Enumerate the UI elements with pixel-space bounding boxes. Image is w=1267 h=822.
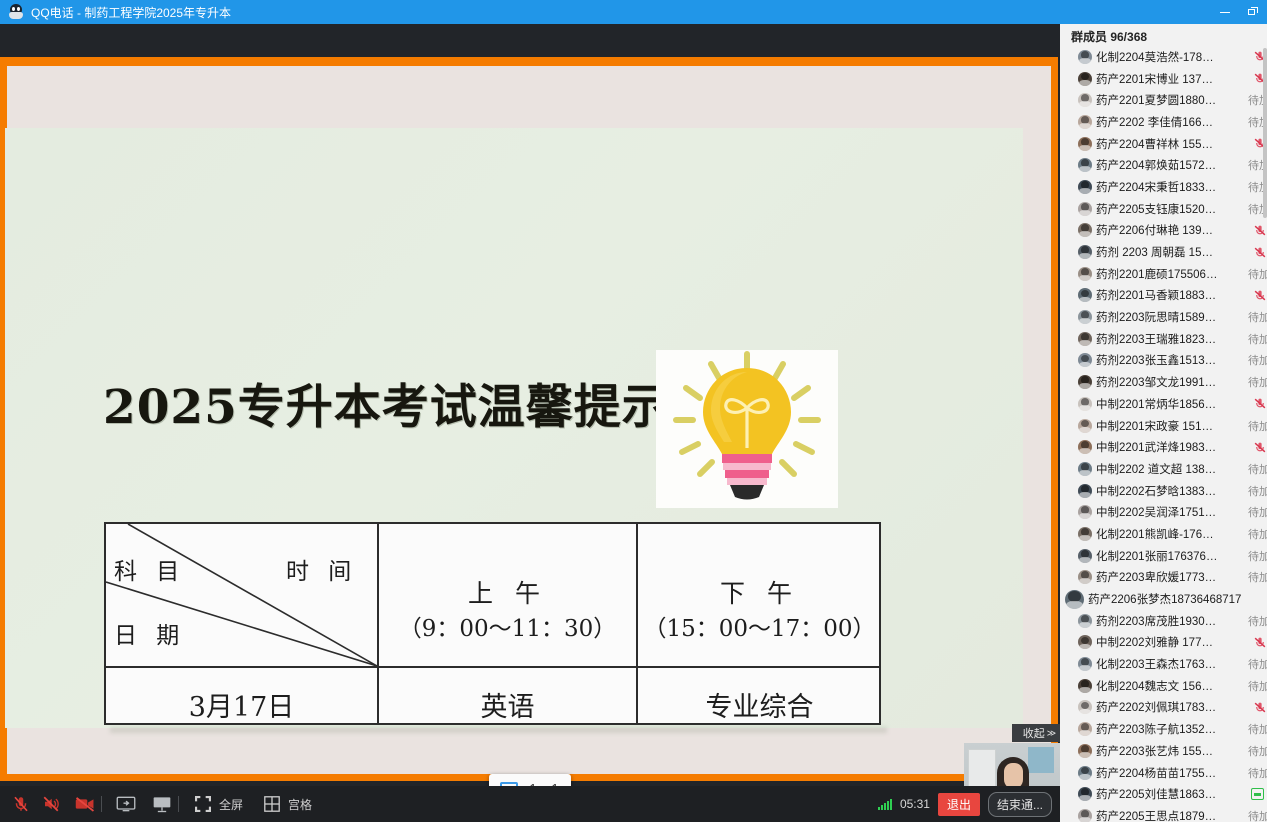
member-name: 化制2204莫浩然-178392... [1096, 49, 1218, 65]
lightbulb-illustration [656, 350, 838, 508]
window-titlebar: QQ电话 - 制药工程学院2025年专升本 [0, 0, 1267, 24]
status-pending-label: 待加入 [1248, 613, 1267, 629]
member-name: 药剂2203席茂胜1930390... [1096, 613, 1218, 629]
member-list-item[interactable]: 化制2201张丽17637648...待加入 [1060, 545, 1267, 567]
avatar [1078, 137, 1092, 151]
mic-muted-icon [10, 786, 32, 822]
lightbulb-icon [656, 350, 838, 508]
member-name: 药产2201夏梦圆1880739... [1096, 92, 1218, 108]
member-list-item[interactable]: 药剂2201马香颖1883868... [1060, 285, 1267, 307]
qq-penguin-icon [8, 4, 24, 20]
whiteboard-icon [151, 786, 173, 822]
member-list-item[interactable]: 药产2202刘佩琪1783847... [1060, 697, 1267, 719]
member-name: 药产2204宋秉哲1833844... [1096, 179, 1218, 195]
status-pending-label: 待加入 [1248, 569, 1267, 585]
avatar [1078, 180, 1092, 194]
mic-muted-icon [1253, 701, 1267, 714]
member-list-item[interactable]: 药产2206付琳艳 1394922... [1060, 220, 1267, 242]
avatar [1078, 766, 1092, 780]
member-status: 待加入 [1248, 526, 1267, 542]
member-status: 待加入 [1248, 418, 1267, 434]
mic-muted-icon [1253, 441, 1267, 454]
minimize-button[interactable] [1211, 0, 1239, 24]
member-list-item[interactable]: 中制2201宋政豪 151363...待加入 [1060, 415, 1267, 437]
member-name: 药产2206付琳艳 1394922... [1096, 222, 1218, 238]
avatar [1078, 310, 1092, 324]
mic-muted-icon [1253, 246, 1267, 259]
status-pending-label: 待加入 [1248, 418, 1267, 434]
status-pending-label: 待加入 [1248, 504, 1267, 520]
table-header-morning-time: （9：00～11：30） [379, 609, 636, 643]
member-list-item[interactable]: 化制2204魏志文 156908...待加入 [1060, 675, 1267, 697]
member-status: 待加入 [1248, 504, 1267, 520]
member-name: 中制2201常炳华185689... [1096, 396, 1218, 412]
member-status: 待加入 [1248, 613, 1267, 629]
member-list-item[interactable]: 药产2204杨苗苗1755067...待加入 [1060, 762, 1267, 784]
toolbar-right-group: 05:31 退出 结束通... [878, 792, 1060, 817]
avatar [1078, 375, 1092, 389]
member-status [1253, 224, 1267, 237]
end-call-button[interactable]: 结束通... [988, 792, 1052, 817]
avatar [1078, 93, 1092, 107]
presentation-slide: 2025专升本考试温馨提示 [5, 128, 1023, 728]
mic-button[interactable] [10, 786, 32, 822]
call-toolbar: 全屏 宫格 05:31 退出 结束通... [0, 786, 1060, 822]
grid-button[interactable]: 宫格 [261, 786, 312, 822]
member-status: 待加入 [1248, 461, 1267, 477]
member-list-item[interactable]: 药产2205王思点1879066...待加入 [1060, 805, 1267, 822]
mic-muted-icon [1253, 397, 1267, 410]
mic-muted-icon [1253, 289, 1267, 302]
avatar [1078, 288, 1092, 302]
avatar [1078, 223, 1092, 237]
member-status [1253, 246, 1267, 259]
toolbar-divider [101, 796, 102, 812]
member-status [1253, 397, 1267, 410]
status-pending-label: 待加入 [1248, 808, 1267, 822]
avatar [1078, 549, 1092, 563]
avatar [1078, 787, 1092, 801]
member-list-item[interactable]: 中制2202刘雅静 177038... [1060, 632, 1267, 654]
member-name: 药产2203陈子航135237-... [1096, 721, 1218, 737]
status-pending-label: 待加入 [1248, 331, 1267, 347]
member-list-item[interactable]: 中制2201常炳华185689... [1060, 393, 1267, 415]
member-name: 药产2205刘佳慧1863900... [1096, 786, 1218, 802]
status-pending-label: 待加入 [1248, 765, 1267, 781]
avatar [1078, 744, 1092, 758]
status-pending-label: 待加入 [1248, 309, 1267, 325]
member-status: 待加入 [1248, 309, 1267, 325]
member-list-item[interactable]: 化制2201熊凯峰-176384...待加入 [1060, 523, 1267, 545]
avatar [1078, 722, 1092, 736]
window-controls [1211, 0, 1267, 24]
member-list-item[interactable]: 药产2206张梦杰18736468717 [1060, 588, 1267, 610]
avatar [1078, 462, 1092, 476]
member-name: 化制2201熊凯峰-176384... [1096, 526, 1218, 542]
member-name: 中制2201宋政豪 151363... [1096, 418, 1218, 434]
member-list-item[interactable]: 药产2203张艺炜 1551711...待加入 [1060, 740, 1267, 762]
fullscreen-icon [192, 786, 214, 822]
member-list-item[interactable]: 中制2201武洋烽1983970... [1060, 436, 1267, 458]
status-pending-label: 待加入 [1248, 548, 1267, 564]
avatar [1078, 440, 1092, 454]
corner-label-subject: 科 目 [114, 552, 185, 586]
member-list-item[interactable]: 化制2203王森杰1763055...待加入 [1060, 653, 1267, 675]
chevron-down-icon: ≫ [1047, 728, 1053, 739]
avatar [1078, 397, 1092, 411]
member-name: 药产2204杨苗苗1755067... [1096, 765, 1218, 781]
member-status: 待加入 [1248, 656, 1267, 672]
table-shadow [110, 727, 887, 733]
corner-label-date: 日 期 [114, 616, 185, 650]
avatar [1078, 202, 1092, 216]
status-pending-label: 待加入 [1248, 721, 1267, 737]
member-status [1253, 701, 1267, 714]
members-scrollbar[interactable] [1263, 48, 1267, 218]
member-list-item[interactable]: 中制2202吴润泽175187...待加入 [1060, 501, 1267, 523]
avatar [1078, 484, 1092, 498]
member-status: 待加入 [1248, 548, 1267, 564]
member-list-item[interactable]: 药剂2201鹿硕17550652...待加入 [1060, 263, 1267, 285]
collapse-button[interactable]: 收起 ≫ [1012, 724, 1064, 742]
grid-icon [261, 786, 283, 822]
member-name: 药剂2203邹文龙1991340... [1096, 374, 1218, 390]
member-status: 待加入 [1248, 808, 1267, 822]
member-name: 中制2202刘雅静 177038... [1096, 634, 1218, 650]
grid-label: 宫格 [288, 796, 312, 813]
member-name: 药产2203张艺炜 1551711... [1096, 743, 1218, 759]
member-list-item[interactable]: 化制2204莫浩然-178392... [1060, 46, 1267, 68]
status-pending-label: 待加入 [1248, 352, 1267, 368]
fullscreen-label: 全屏 [219, 796, 243, 813]
member-name: 中制2201武洋烽1983970... [1096, 439, 1218, 455]
avatar [1078, 505, 1092, 519]
member-list-item[interactable]: 中制2202石梦晗1383700...待加入 [1060, 480, 1267, 502]
mic-muted-icon [1253, 224, 1267, 237]
avatar [1078, 635, 1092, 649]
member-list-item[interactable]: 药产2202 李佳倩166928...待加入 [1060, 111, 1267, 133]
exit-button[interactable]: 退出 [938, 793, 980, 816]
member-status: 待加入 [1248, 743, 1267, 759]
table-cell-afternoon-subject: 专业综合 [638, 685, 881, 724]
member-status [1253, 441, 1267, 454]
member-name: 药产2205王思点1879066... [1096, 808, 1218, 822]
speaker-muted-icon [40, 786, 62, 822]
member-name: 药产2204郭焕茹1572611... [1096, 157, 1218, 173]
member-status: 待加入 [1248, 374, 1267, 390]
window-title: QQ电话 - 制药工程学院2025年专升本 [31, 4, 231, 21]
avatar [1078, 700, 1092, 714]
members-panel-header: 群成员 96/368 [1060, 24, 1267, 46]
avatar [1078, 115, 1092, 129]
table-header-afternoon: 下 午 [638, 574, 881, 610]
member-status: 待加入 [1248, 483, 1267, 499]
slide-title: 2025专升本考试温馨提示 [103, 368, 670, 437]
member-list-item[interactable]: 药产2204曹祥林 155655... [1060, 133, 1267, 155]
table-header-afternoon-time: （15：00～17：00） [638, 609, 881, 643]
member-list-item[interactable]: 药剂 2203 周朝磊 15827... [1060, 241, 1267, 263]
member-name: 化制2201张丽17637648... [1096, 548, 1218, 564]
screen-share-button[interactable] [115, 786, 137, 822]
member-name: 药剂 2203 周朝磊 15827... [1096, 244, 1218, 260]
member-name: 药剂2201马香颖1883868... [1096, 287, 1218, 303]
avatar [1078, 353, 1092, 367]
fullscreen-button[interactable]: 全屏 [192, 786, 243, 822]
status-pending-label: 待加入 [1248, 743, 1267, 759]
member-status: 待加入 [1248, 569, 1267, 585]
member-list-item[interactable]: 药产2201宋博业 1378277... [1060, 68, 1267, 90]
status-pending-label: 待加入 [1248, 678, 1267, 694]
member-name: 药剂2203王瑞雅182370... [1096, 331, 1218, 347]
collapse-label: 收起 [1023, 725, 1045, 741]
avatar [1078, 332, 1092, 346]
avatar [1078, 50, 1092, 64]
member-name: 药产2206张梦杰18736468717 [1088, 591, 1241, 607]
member-status: 待加入 [1248, 721, 1267, 737]
member-list-item[interactable]: 药剂2203张玉鑫1513818...待加入 [1060, 350, 1267, 372]
table-cell-date: 3月17日 [106, 685, 377, 724]
member-name: 药产2202刘佩琪1783847... [1096, 699, 1218, 715]
table-cell-morning-subject: 英语 [379, 685, 636, 724]
member-list-item[interactable]: 药剂2203阮思晴1589657...待加入 [1060, 306, 1267, 328]
member-name: 药剂2203张玉鑫1513818... [1096, 352, 1218, 368]
call-timer: 05:31 [900, 797, 930, 811]
member-name: 中制2202 道文超 13838... [1096, 461, 1218, 477]
member-name: 药剂2203阮思晴1589657... [1096, 309, 1218, 325]
screen-share-icon [115, 786, 137, 822]
member-list-item[interactable]: 药产2204郭焕茹1572611...待加入 [1060, 154, 1267, 176]
member-list-item[interactable]: 药产2201夏梦圆1880739...待加入 [1060, 89, 1267, 111]
joined-speaking-icon [1251, 788, 1267, 800]
member-list-item[interactable]: 药产2205支钰康1520017...待加入 [1060, 198, 1267, 220]
member-name: 药产2204曹祥林 155655... [1096, 136, 1218, 152]
mic-muted-icon [1253, 636, 1267, 649]
avatar [1078, 419, 1092, 433]
member-name: 药产2203卑欣媛1773920... [1096, 569, 1218, 585]
member-status: 待加入 [1248, 266, 1267, 282]
avatar [1078, 158, 1092, 172]
member-status: 待加入 [1248, 678, 1267, 694]
member-name: 化制2204魏志文 156908... [1096, 678, 1218, 694]
avatar [1078, 72, 1092, 86]
table-corner-cell: 科 目 时 间 日 期 [106, 524, 377, 666]
speaker-button[interactable] [40, 786, 62, 822]
member-status: 待加入 [1248, 352, 1267, 368]
member-name: 药产2205支钰康1520017... [1096, 201, 1218, 217]
member-name: 药产2202 李佳倩166928... [1096, 114, 1218, 130]
whiteboard-button[interactable] [151, 786, 173, 822]
avatar [1078, 245, 1092, 259]
member-list-item[interactable]: 药剂2203席茂胜1930390...待加入 [1060, 610, 1267, 632]
member-status: 待加入 [1248, 331, 1267, 347]
members-panel: 群成员 96/368 化制2204莫浩然-178392...药产2201宋博业 … [1060, 24, 1267, 822]
avatar [1078, 679, 1092, 693]
avatar [1078, 267, 1092, 281]
table-header-morning: 上 午 [379, 574, 636, 610]
status-pending-label: 待加入 [1248, 461, 1267, 477]
avatar [1078, 570, 1092, 584]
status-pending-label: 待加入 [1248, 374, 1267, 390]
avatar [1078, 527, 1092, 541]
status-pending-label: 待加入 [1248, 266, 1267, 282]
member-list-item[interactable]: 药产2205刘佳慧1863900... [1060, 783, 1267, 805]
member-list-item[interactable]: 药产2203陈子航135237-...待加入 [1060, 718, 1267, 740]
member-name: 化制2203王森杰1763055... [1096, 656, 1218, 672]
video-stage: 2025专升本考试温馨提示 [0, 24, 1060, 786]
member-name: 药产2201宋博业 1378277... [1096, 71, 1218, 87]
members-list[interactable]: 化制2204莫浩然-178392...药产2201宋博业 1378277...药… [1060, 46, 1267, 822]
avatar [1078, 657, 1092, 671]
camera-muted-icon [74, 786, 96, 822]
camera-button[interactable] [74, 786, 96, 822]
status-pending-label: 待加入 [1248, 483, 1267, 499]
toolbar-divider-2 [178, 796, 179, 812]
member-status [1253, 636, 1267, 649]
avatar [1078, 614, 1092, 628]
member-list-item[interactable]: 中制2202 道文超 13838...待加入 [1060, 458, 1267, 480]
avatar [1065, 590, 1084, 609]
member-status: 待加入 [1248, 765, 1267, 781]
corner-label-time: 时 间 [286, 552, 357, 586]
restore-button[interactable] [1239, 0, 1267, 24]
member-list-item[interactable]: 药剂2203邹文龙1991340...待加入 [1060, 371, 1267, 393]
member-list-item[interactable]: 药剂2203王瑞雅182370...待加入 [1060, 328, 1267, 350]
member-status [1253, 289, 1267, 302]
member-name: 中制2202石梦晗1383700... [1096, 483, 1218, 499]
member-list-item[interactable]: 药产2204宋秉哲1833844...待加入 [1060, 176, 1267, 198]
member-status [1251, 788, 1267, 800]
status-pending-label: 待加入 [1248, 656, 1267, 672]
status-pending-label: 待加入 [1248, 526, 1267, 542]
signal-bars-icon [878, 799, 892, 810]
exam-schedule-table: 科 目 时 间 日 期 上 午 （9：00～11：30） 下 午 （15：00～… [104, 522, 881, 725]
member-name: 药剂2201鹿硕17550652... [1096, 266, 1218, 282]
member-name: 中制2202吴润泽175187... [1096, 504, 1218, 520]
member-list-item[interactable]: 药产2203卑欣媛1773920...待加入 [1060, 567, 1267, 589]
avatar [1078, 809, 1092, 822]
